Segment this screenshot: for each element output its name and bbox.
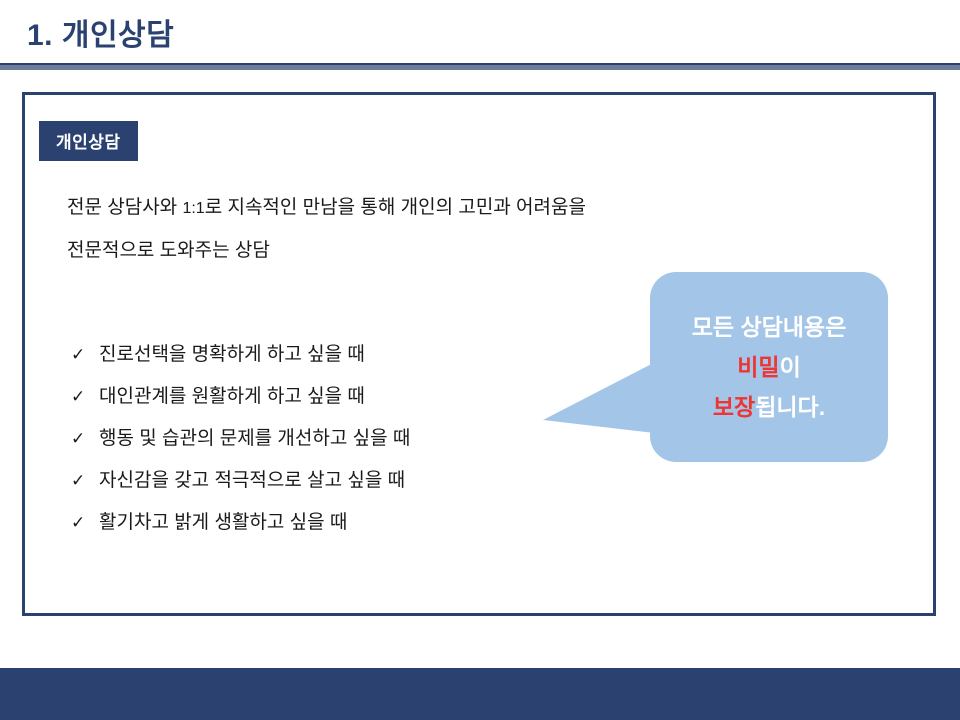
list-item-label: 대인관계를 원활하게 하고 싶을 때 — [99, 387, 365, 406]
callout-body: 모든 상담내용은 비밀이 보장됩니다. — [650, 272, 888, 462]
check-icon: ✓ — [71, 347, 99, 364]
list-item: ✓ 자신감을 갖고 적극적으로 살고 싶을 때 — [71, 471, 410, 513]
list-item: ✓ 대인관계를 원활하게 하고 싶을 때 — [71, 387, 410, 429]
callout-line-3-rest: 됩니다. — [755, 394, 825, 420]
callout-tail-icon — [543, 358, 663, 434]
description-paragraph: 전문 상담사와 1:1로 지속적인 만남을 통해 개인의 고민과 어려움을 전문… — [67, 187, 767, 272]
check-icon: ✓ — [71, 473, 99, 490]
description-ratio: 1:1 — [182, 200, 204, 217]
list-item-label: 활기차고 밝게 생활하고 싶을 때 — [99, 513, 347, 532]
list-item-label: 행동 및 습관의 문제를 개선하고 싶을 때 — [99, 429, 410, 448]
list-item: ✓ 진로선택을 명확하게 하고 싶을 때 — [71, 345, 410, 387]
list-item: ✓ 활기차고 밝게 생활하고 싶을 때 — [71, 513, 410, 555]
list-item-label: 자신감을 갖고 적극적으로 살고 싶을 때 — [99, 471, 405, 490]
check-icon: ✓ — [71, 515, 99, 532]
description-line-2: 전문적으로 도와주는 상담 — [67, 230, 767, 272]
description-line-1-part-a: 전문 상담사와 — [67, 197, 182, 218]
check-icon: ✓ — [71, 389, 99, 406]
callout-highlight-guarantee: 보장 — [713, 394, 755, 420]
confidentiality-callout: 모든 상담내용은 비밀이 보장됩니다. — [650, 272, 888, 462]
list-item-label: 진로선택을 명확하게 하고 싶을 때 — [99, 345, 365, 364]
callout-line-2: 비밀이 — [737, 347, 801, 387]
check-icon: ✓ — [71, 431, 99, 448]
callout-highlight-secret: 비밀 — [737, 354, 779, 380]
section-badge: 개인상담 — [39, 121, 138, 161]
page-title: 1. 개인상담 — [27, 18, 174, 54]
title-divider — [0, 63, 960, 70]
description-line-1-part-b: 로 지속적인 만남을 통해 개인의 고민과 어려움을 — [205, 197, 586, 218]
list-item: ✓ 행동 및 습관의 문제를 개선하고 싶을 때 — [71, 429, 410, 471]
check-list: ✓ 진로선택을 명확하게 하고 싶을 때 ✓ 대인관계를 원활하게 하고 싶을 … — [71, 345, 410, 555]
footer-bar — [0, 668, 960, 720]
description-line-1: 전문 상담사와 1:1로 지속적인 만남을 통해 개인의 고민과 어려움을 — [67, 187, 767, 230]
callout-line-2-rest: 이 — [780, 354, 801, 380]
callout-line-1: 모든 상담내용은 — [692, 307, 847, 347]
callout-line-3: 보장됩니다. — [713, 387, 825, 427]
